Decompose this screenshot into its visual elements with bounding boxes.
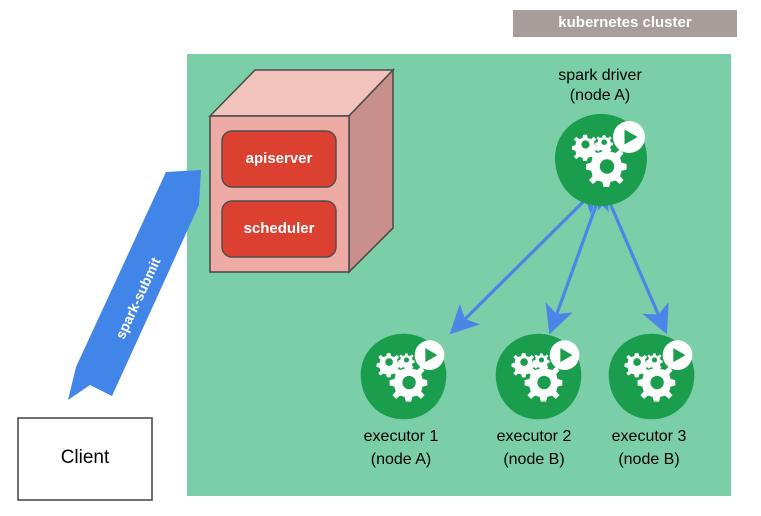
executor-2-label-line1: executor 2 bbox=[469, 428, 599, 447]
client-label: Client bbox=[18, 447, 152, 469]
spark-driver-icon[interactable] bbox=[555, 114, 647, 206]
executor-3-label-line1: executor 3 bbox=[584, 428, 714, 447]
apiserver-label: apiserver bbox=[222, 150, 336, 168]
spark-driver-label-line2: (node A) bbox=[525, 87, 675, 106]
executor-1-label-line1: executor 1 bbox=[336, 428, 466, 447]
executor-2-icon[interactable] bbox=[496, 334, 582, 420]
executor-1-icon[interactable] bbox=[361, 334, 447, 420]
executor-2-label-line2: (node B) bbox=[469, 451, 599, 470]
executor-3-label-line2: (node B) bbox=[584, 451, 714, 470]
executor-3-icon[interactable] bbox=[609, 334, 695, 420]
kubernetes-cluster-badge-label: kubernetes cluster bbox=[513, 14, 737, 32]
spark-driver-label-line1: spark driver bbox=[525, 67, 675, 86]
control-plane-cube bbox=[210, 70, 393, 272]
executor-1-label-line2: (node A) bbox=[336, 451, 466, 470]
scheduler-label: scheduler bbox=[222, 220, 336, 238]
diagram-canvas: kubernetes cluster apiserver scheduler s… bbox=[0, 0, 761, 516]
